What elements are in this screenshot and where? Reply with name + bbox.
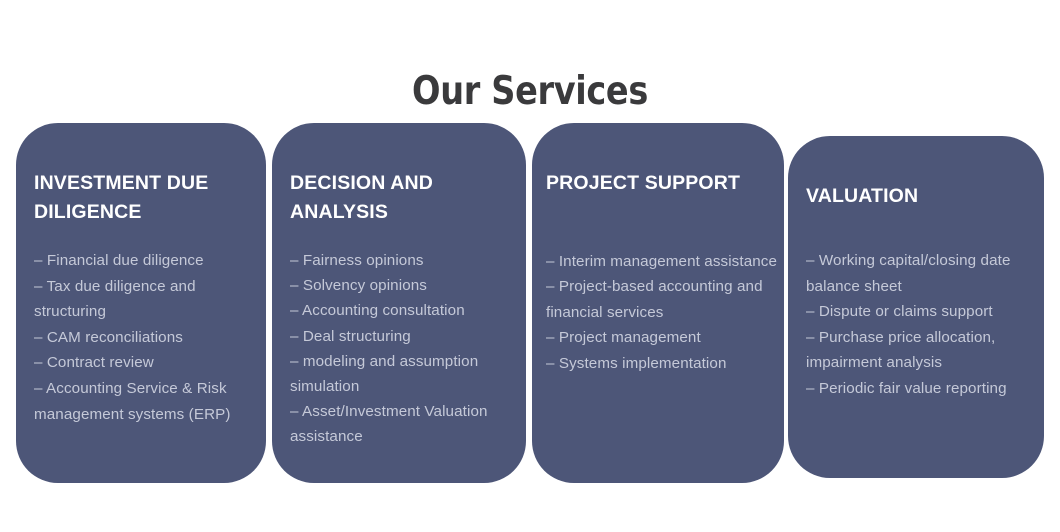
list-item: – Tax due diligence and structuring xyxy=(34,274,256,325)
list-item: – Accounting Service & Risk management s… xyxy=(34,376,256,427)
card-title: DECISION AND ANALYSIS xyxy=(290,169,512,226)
card-service-list: – Fairness opinions– Solvency opinions– … xyxy=(290,248,516,450)
list-item: – Project-based accounting and financial… xyxy=(546,274,778,325)
card-service-list: – Working capital/closing date balance s… xyxy=(806,248,1038,402)
service-card-valuation[interactable]: VALUATION – Working capital/closing date… xyxy=(788,136,1044,478)
card-title: VALUATION xyxy=(806,182,1032,211)
list-item: – Solvency opinions xyxy=(290,273,516,298)
card-service-list: – Financial due diligence– Tax due dilig… xyxy=(34,248,256,427)
card-title: PROJECT SUPPORT xyxy=(546,169,768,198)
list-item: – Working capital/closing date balance s… xyxy=(806,248,1038,299)
card-title: INVESTMENT DUE DILIGENCE xyxy=(34,169,252,226)
list-item: – modeling and assumption simulation xyxy=(290,349,516,399)
list-item: – Deal structuring xyxy=(290,324,516,349)
list-item: – Accounting consultation xyxy=(290,298,516,323)
list-item: – Fairness opinions xyxy=(290,248,516,273)
list-item: – Project management xyxy=(546,325,778,350)
card-service-list: – Interim management assistance– Project… xyxy=(546,249,778,376)
list-item: – Periodic fair value reporting xyxy=(806,376,1038,402)
list-item: – Contract review xyxy=(34,350,256,376)
service-card-investment-due-diligence[interactable]: INVESTMENT DUE DILIGENCE – Financial due… xyxy=(16,123,266,483)
list-item: – Purchase price allocation, impairment … xyxy=(806,325,1038,376)
list-item: – Interim management assistance xyxy=(546,249,778,274)
list-item: – Financial due diligence xyxy=(34,248,256,274)
services-card-deck: INVESTMENT DUE DILIGENCE – Financial due… xyxy=(0,0,1060,532)
list-item: – Systems implementation xyxy=(546,351,778,376)
list-item: – Dispute or claims support xyxy=(806,299,1038,325)
list-item: – CAM reconciliations xyxy=(34,325,256,351)
service-card-project-support[interactable]: PROJECT SUPPORT – Interim management ass… xyxy=(532,123,784,483)
list-item: – Asset/Investment Valuation assistance xyxy=(290,399,516,449)
service-card-decision-and-analysis[interactable]: DECISION AND ANALYSIS – Fairness opinion… xyxy=(272,123,526,483)
